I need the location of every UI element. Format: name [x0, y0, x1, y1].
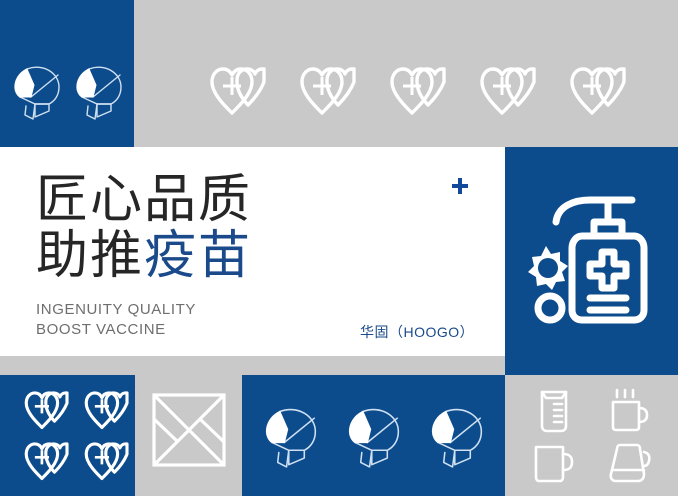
small-ring-icon — [538, 296, 562, 320]
headline-line-2: 助推疫苗 — [36, 228, 456, 284]
double-heart-plus-icon — [190, 64, 264, 120]
headline-line-2-prefix: 助推 — [36, 226, 144, 286]
image-placeholder-x-icon — [151, 392, 227, 468]
headline-line-2-accent: 疫苗 — [144, 226, 252, 286]
bottom-heart-icon-group — [8, 385, 128, 488]
double-heart-plus-icon — [460, 64, 534, 120]
double-heart-plus-icon — [69, 440, 127, 484]
hand-sanitizer-illustration — [520, 190, 665, 335]
virus-gear-icon — [528, 246, 568, 290]
masked-head-icon — [9, 61, 65, 123]
masked-head-icon — [260, 402, 322, 472]
double-heart-plus-icon — [550, 64, 624, 120]
vessel-icon-group — [516, 383, 666, 489]
headline-line-1: 匠心品质 — [36, 172, 456, 228]
double-heart-plus-icon — [9, 389, 67, 433]
poster-canvas: 匠心品质 助推疫苗 INGENUITY QUALITY BOOST VACCIN… — [0, 0, 678, 496]
double-heart-plus-icon — [69, 389, 127, 433]
masked-head-icon — [71, 61, 127, 123]
steaming-mug-icon — [605, 386, 653, 434]
page-title: 匠心品质 助推疫苗 — [36, 172, 456, 284]
measuring-beaker-icon — [532, 386, 576, 434]
brand-name: 华固（HOOGO） — [360, 322, 474, 342]
masked-head-icon — [343, 402, 405, 472]
subtitle-line-2: BOOST VACCINE — [36, 320, 196, 340]
subtitle-line-1: INGENUITY QUALITY — [36, 300, 196, 320]
top-heart-icon-group — [140, 48, 678, 136]
double-heart-plus-icon — [370, 64, 444, 120]
subtitle: INGENUITY QUALITY BOOST VACCINE — [36, 300, 196, 340]
bottom-mask-icon-group — [250, 385, 498, 488]
masked-head-icon — [426, 402, 488, 472]
kettle-icon — [604, 440, 654, 486]
top-mask-icon-group — [8, 48, 128, 136]
mug-icon — [530, 441, 578, 485]
double-heart-plus-icon — [9, 440, 67, 484]
plus-cross-icon — [450, 176, 470, 196]
double-heart-plus-icon — [280, 64, 354, 120]
